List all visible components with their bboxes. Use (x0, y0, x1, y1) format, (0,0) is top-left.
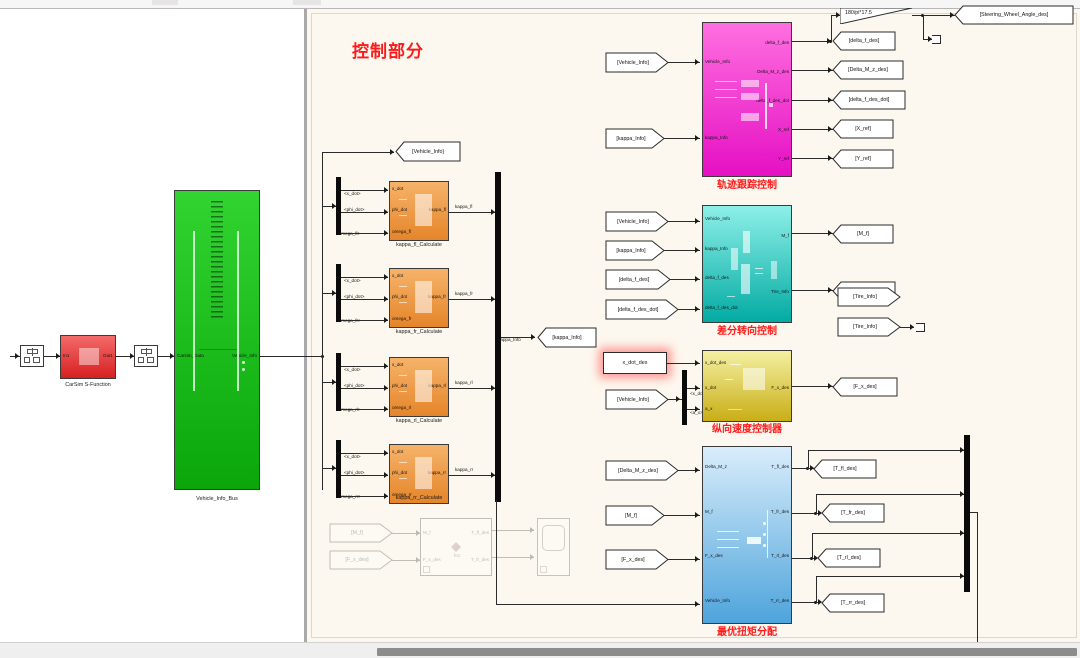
wire (341, 277, 388, 278)
port-out-label: F_x_des (771, 386, 789, 391)
carsim-in-port-label: In1 (63, 354, 69, 359)
bottom-status-bar (0, 642, 1080, 658)
port-in-label: a_x (705, 407, 712, 412)
wire-arrow (828, 126, 832, 132)
wire-arrow (676, 396, 680, 402)
wire (341, 388, 388, 389)
port-in-label: x_dot (392, 363, 403, 368)
wire-arrow (695, 360, 699, 366)
port-out-label: T_fr_des (771, 510, 789, 515)
inport-io-block-1[interactable] (20, 345, 44, 367)
wire-arrow (695, 512, 699, 518)
toolbar-ghost-b (293, 0, 321, 5)
wire-arrow (695, 467, 699, 473)
wire-arrow (695, 385, 699, 391)
wire (341, 453, 388, 454)
goto-tag-delta-f-des[interactable]: [delta_f_des] (833, 32, 895, 50)
control-section-title: 控制部分 (352, 37, 424, 62)
port-out-label: T_fl_des (771, 465, 789, 470)
wire-arrow (695, 601, 699, 607)
port-out-label: T_rr_des (771, 599, 789, 604)
port-in-label: phi_dot (392, 384, 407, 389)
goto-tag-delta-f-des-dot[interactable]: [delta_f_des_dot] (833, 91, 905, 109)
from-tag-fx-des-torque[interactable]: [F_x_des] (606, 550, 668, 569)
wire (496, 500, 497, 605)
goto-tag-y-ref[interactable]: [Y_ref] (833, 150, 893, 168)
vehicle-bus-in-port-label: Carsim_Data (177, 354, 204, 359)
bus-selector-bar-longitudinal[interactable] (682, 370, 687, 425)
wire (449, 475, 497, 476)
from-tag-mf-torque[interactable]: [M_f] (606, 506, 664, 525)
wire (496, 604, 700, 605)
wire-arrow (828, 287, 832, 293)
wire (923, 15, 924, 39)
port-out-label: delta_f_des (765, 41, 789, 46)
vehicle-info-bus-block[interactable]: Carsim_Data Vehicle_Info (174, 190, 260, 490)
wire-arrow (384, 317, 388, 323)
port-in-label: x_dot (705, 386, 716, 391)
port-in-label: x_dot (392, 187, 403, 192)
wire (816, 494, 965, 495)
toolbar-ghost-a (152, 0, 178, 5)
kappa-rr-calculate-label: kappa_rr_Calculate (379, 496, 459, 501)
goto-tag-mf[interactable]: [M_f] (833, 225, 893, 243)
wire (341, 320, 388, 321)
kappa-fl-calculate-label: kappa_fl_Calculate (379, 243, 459, 248)
wire-arrow (530, 527, 534, 533)
steering-gain-block[interactable]: 180/pi*17.5 (840, 8, 912, 24)
carsim-s-function-block[interactable]: In1 Out1 (60, 335, 116, 379)
wire-arrow (384, 363, 388, 369)
from-tag-vehicle-info-diff[interactable]: [Vehicle_Info] (606, 212, 668, 231)
wire (341, 409, 388, 410)
wire (792, 70, 833, 71)
port-out-label: M_f (781, 234, 789, 239)
kappa-rl-calculate-block[interactable]: x_dot phi_dot omega_rl kappa_rl (389, 357, 449, 417)
scope-block-disabled[interactable] (537, 518, 570, 576)
signal-label-kappa-fl: kappa_fl (455, 205, 472, 210)
wire (816, 494, 817, 514)
steering-gain-value: 180/pi*17.5 (845, 10, 872, 16)
wire-arrow (384, 406, 388, 412)
port-in-label: phi_dot (392, 471, 407, 476)
wire-arrow (695, 218, 699, 224)
wire (449, 212, 497, 213)
bus-signal-label: <x_dot> (344, 192, 361, 197)
signal-label-kappa-rl: kappa_rl (455, 381, 473, 386)
port-in-label: phi_dot (392, 208, 407, 213)
goto-tag-t-fl-des[interactable]: [T_fl_des] (814, 460, 876, 478)
wire-arrow (828, 230, 832, 236)
from-tag-delta-f-des-dot-diff[interactable]: [delta_f_des_dot] (606, 300, 678, 319)
goto-tag-vehicle-info-top[interactable]: [Vehicle_Info] (396, 142, 460, 161)
wire (341, 233, 388, 234)
bus-signal-label: <x_dot> (344, 279, 361, 284)
wire-arrow (950, 12, 954, 18)
matlab-fcn-block-disabled[interactable]: M_f F_x_des T_fl_des T_fr_des fcn (420, 518, 492, 576)
wire (812, 533, 813, 559)
from-tag-kappa-info-traj[interactable]: [kappa_Info] (606, 129, 664, 148)
wire (831, 15, 832, 42)
wire-arrow (384, 230, 388, 236)
fcn-block-label: fcn (449, 553, 465, 558)
optimal-torque-allocation-block[interactable]: Delta_M_z M_f F_x_des Vehicle_Info T_fl_… (702, 446, 792, 624)
kappa-info-mux-label: kappa_Info (498, 338, 521, 343)
wire-arrow (15, 353, 19, 359)
x-dot-des-constant-label: x_dot_des (604, 353, 666, 373)
from-tag-tire-info-terminated[interactable]: [Tire_Info] (838, 318, 900, 336)
port-out-label: T_fl_des (471, 531, 489, 536)
port-in-label: Vehicle_Info (705, 60, 730, 65)
kappa-rl-calculate-label: kappa_rl_Calculate (379, 419, 459, 424)
port-out-label: Y_ref (778, 157, 789, 162)
wire (816, 576, 817, 603)
port-in-label: Delta_M_z (705, 465, 727, 470)
horizontal-scrollbar[interactable] (377, 648, 1077, 656)
bus-selector-bar-4[interactable] (336, 440, 341, 498)
x-dot-des-constant-block[interactable]: x_dot_des (603, 352, 667, 374)
wire (341, 475, 388, 476)
wire-arrow (695, 59, 699, 65)
wire (792, 386, 833, 387)
wire (341, 190, 388, 191)
vehicle-info-bus-label: Vehicle_Info_Bus (167, 497, 267, 502)
goto-tag-delta-mz-des[interactable]: [Delta_M_z_des] (833, 61, 903, 79)
wire-arrow (695, 135, 699, 141)
goto-tag-x-ref[interactable]: [X_ref] (833, 120, 893, 138)
bus-signal-label: <x_dot> (344, 455, 361, 460)
port-in-label: x_dot_des (705, 361, 726, 366)
wire (808, 450, 809, 469)
inport-io-block-2[interactable] (134, 345, 158, 367)
wire-arrow (695, 306, 699, 312)
wire-arrow (530, 554, 534, 560)
wire (449, 388, 497, 389)
from-tag-kappa-info-diff[interactable]: [kappa_Info] (606, 241, 664, 260)
wire-arrow (695, 276, 699, 282)
from-tag-vehicle-info-traj[interactable]: [Vehicle_Info] (606, 53, 668, 72)
port-out-label: Delta_M_z_des (757, 70, 789, 75)
port-in-label: omega_fr (392, 317, 411, 322)
wire (341, 299, 388, 300)
from-tag-delta-f-des-diff[interactable]: [delta_f_des] (606, 270, 670, 289)
goto-tag-kappa-info[interactable]: [kappa_Info] (538, 328, 596, 347)
wire (341, 366, 388, 367)
wire (912, 15, 955, 16)
port-in-label: omega_fl (392, 230, 411, 235)
wire (977, 512, 978, 642)
goto-tag-steering-wheel-angle[interactable]: [Steering_Wheel_Angle_des] (955, 6, 1073, 24)
trajectory-tracking-label: 轨迹跟踪控制 (707, 181, 787, 191)
wire (792, 41, 832, 42)
goto-tag-t-rl-des[interactable]: [T_rl_des] (818, 549, 880, 567)
terminator-block-1[interactable] (932, 35, 941, 44)
wire-arrow (384, 209, 388, 215)
goto-tag-t-fr-des[interactable]: [T_fr_des] (822, 504, 884, 522)
port-in-label: x_dot (392, 450, 403, 455)
wire (501, 337, 535, 338)
from-tag-tire-info-floating[interactable]: [Tire_Info] (838, 288, 900, 306)
differential-steering-label: 差分转向控制 (707, 327, 787, 337)
longitudinal-speed-label: 纵向速度控制器 (702, 425, 792, 435)
longitudinal-speed-block[interactable]: x_dot_des x_dot a_x F_x_des (702, 350, 792, 422)
port-out-label: Tire_Info (771, 290, 789, 295)
wire-arrow (384, 187, 388, 193)
port-in-label: x_dot (392, 274, 403, 279)
signal-label-kappa-rr: kappa_rr (455, 468, 473, 473)
from-tag-vehicle-info-long[interactable]: [Vehicle_Info] (606, 390, 668, 409)
wire-arrow (384, 472, 388, 478)
from-tag-fx-des-disabled[interactable]: [F_x_des] (330, 551, 392, 569)
simulink-canvas-root: In1 Out1 CarSim S-Function Carsim_Data V… (0, 0, 1080, 658)
wire-arrow (695, 247, 699, 253)
carsim-s-function-label: CarSim S-Function (42, 383, 134, 388)
bus-signal-label: <x_dot> (344, 368, 361, 373)
wire-arrow (384, 385, 388, 391)
kappa-fl-calculate-block[interactable]: x_dot phi_dot omega_fl kappa_fl (389, 181, 449, 241)
trajectory-tracking-block[interactable]: Vehicle_Info kappa_Info delta_f_des Delt… (702, 22, 792, 177)
terminator-block-2[interactable] (916, 323, 925, 332)
wire-arrow (828, 97, 832, 103)
wire (816, 576, 965, 577)
port-in-label: kappa_Info (705, 136, 728, 141)
wire-arrow (384, 296, 388, 302)
wire (492, 530, 534, 531)
wire (792, 158, 833, 159)
wire (792, 290, 833, 291)
signal-label-kappa-fr: kappa_fr (455, 292, 473, 297)
wire-arrow (695, 556, 699, 562)
port-in-label: M_f (423, 531, 431, 536)
port-in-label: omega_rl (392, 406, 411, 411)
port-in-label: M_f (705, 510, 713, 515)
wire (812, 533, 965, 534)
wire (970, 512, 978, 513)
wire (341, 212, 388, 213)
wire (322, 152, 394, 153)
wire (322, 200, 323, 490)
carsim-out-port-label: Out1 (103, 354, 113, 359)
goto-tag-fx-des[interactable]: [F_x_des] (833, 378, 897, 396)
bus-selector-bar-3[interactable] (336, 353, 341, 411)
wire (792, 233, 833, 234)
wire (492, 557, 534, 558)
port-out-label: T_fr_des (471, 558, 489, 563)
wire (808, 450, 965, 451)
vehicle-bus-out-port-label: Vehicle_Info (232, 354, 257, 359)
wire (792, 100, 833, 101)
port-in-label: delta_f_des_dot (705, 306, 738, 311)
differential-steering-block[interactable]: Vehicle_Info kappa_Info delta_f_des delt… (702, 205, 792, 323)
port-out-label: T_rl_des (771, 554, 789, 559)
goto-tag-t-rr-des[interactable]: [T_rr_des] (822, 594, 884, 612)
wire-arrow (828, 383, 832, 389)
wire (792, 129, 833, 130)
from-tag-delta-mz-des-torque[interactable]: [Delta_M_z_des] (606, 461, 678, 480)
wire-arrow (384, 450, 388, 456)
toolbar-strip (0, 0, 1080, 9)
port-in-label: delta_f_des (705, 276, 729, 281)
wire-arrow (828, 155, 832, 161)
wire-arrow (695, 406, 699, 412)
port-in-label: Vehicle_Info (705, 217, 730, 222)
port-in-label: phi_dot (392, 295, 407, 300)
kappa-fr-calculate-label: kappa_fr_Calculate (379, 330, 459, 335)
bus-selector-bar-1[interactable] (336, 177, 341, 235)
bus-selector-bar-2[interactable] (336, 264, 341, 322)
wire-arrow (828, 67, 832, 73)
port-in-label: F_x_des (423, 558, 441, 563)
port-in-label: F_x_des (705, 554, 723, 559)
wire-arrow (390, 149, 394, 155)
wire-vehicle-info-bus-out (260, 356, 323, 357)
wire-arrow (910, 324, 914, 330)
kappa-fr-calculate-block[interactable]: x_dot phi_dot omega_fr kappa_fr (389, 268, 449, 328)
optimal-torque-allocation-label: 最优扭矩分配 (702, 628, 792, 638)
wire-arrow (384, 274, 388, 280)
from-tag-mf-disabled[interactable]: [M_f] (330, 524, 392, 542)
torque-output-mux-bar[interactable] (964, 435, 970, 592)
port-in-label: Vehicle_Info (705, 599, 730, 604)
port-in-label: kappa_Info (705, 247, 728, 252)
port-out-label: X_ref (778, 128, 789, 133)
wire-arrow (531, 334, 535, 340)
wire (449, 299, 497, 300)
